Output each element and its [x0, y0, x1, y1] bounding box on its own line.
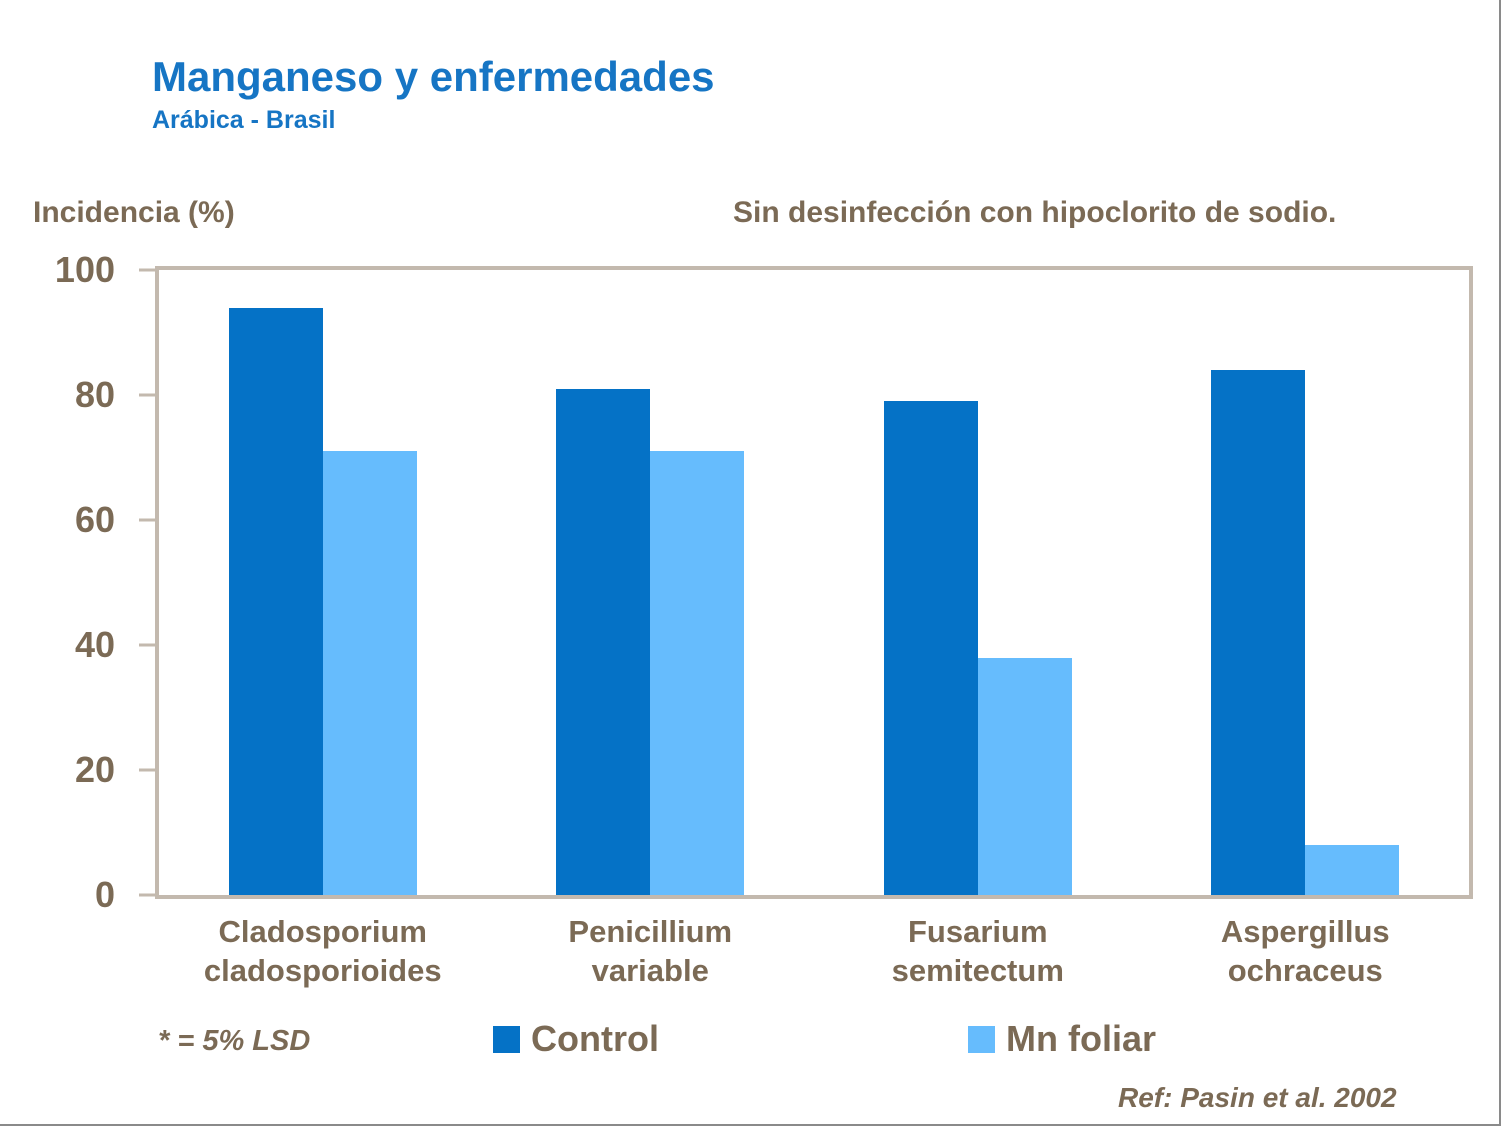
- legend-swatch-icon-mn-foliar: [968, 1026, 995, 1053]
- y-axis-tick-mark: [139, 644, 155, 647]
- legend-swatch-icon-control: [493, 1026, 520, 1053]
- y-axis-tick-label: 60: [0, 499, 115, 541]
- x-axis-category-label-line: Aspergillus: [1142, 912, 1470, 951]
- plot-area: [155, 266, 1473, 899]
- x-axis-category-label-line: semitectum: [814, 951, 1142, 990]
- bar-mn-foliar[interactable]: [650, 451, 744, 895]
- reference-text: Ref: Pasin et al. 2002: [1118, 1082, 1397, 1114]
- y-axis-tick-label: 80: [0, 374, 115, 416]
- y-axis-tick-mark: [139, 519, 155, 522]
- page-subtitle: Arábica - Brasil: [152, 104, 715, 136]
- x-axis-category-label-line: Cladosporium: [159, 912, 487, 951]
- bar-group: [487, 270, 815, 895]
- y-axis-tick-mark: [139, 269, 155, 272]
- bar-control[interactable]: [884, 401, 978, 895]
- x-axis-category-label-line: Fusarium: [814, 912, 1142, 951]
- x-axis-category-label-line: Penicillium: [487, 912, 815, 951]
- y-axis-title: Incidencia (%): [33, 196, 235, 230]
- x-axis-category-label: Aspergillusochraceus: [1142, 912, 1470, 990]
- bar-control[interactable]: [1211, 370, 1305, 895]
- title-block: Manganeso y enfermedades Arábica - Brasi…: [152, 52, 715, 136]
- bar-control[interactable]: [556, 389, 650, 895]
- legend-label-mn-foliar: Mn foliar: [1006, 1018, 1156, 1060]
- chart-note: Sin desinfección con hipoclorito de sodi…: [733, 196, 1336, 230]
- bar-group: [159, 270, 487, 895]
- bar-group: [814, 270, 1142, 895]
- bar-mn-foliar[interactable]: [1305, 845, 1399, 895]
- x-axis-category-label: Fusariumsemitectum: [814, 912, 1142, 990]
- legend-label-control: Control: [531, 1018, 659, 1060]
- bar-mn-foliar[interactable]: [323, 451, 417, 895]
- x-axis-category-label-line: ochraceus: [1142, 951, 1470, 990]
- lsd-note: * = 5% LSD: [158, 1025, 310, 1058]
- y-axis-tick-label: 40: [0, 624, 115, 666]
- plot-inner: [159, 270, 1469, 895]
- y-axis-tick-mark: [139, 769, 155, 772]
- bar-mn-foliar[interactable]: [978, 658, 1072, 896]
- bar-control[interactable]: [229, 308, 323, 896]
- bar-group: [1142, 270, 1470, 895]
- legend-item-mn-foliar[interactable]: Mn foliar: [968, 1018, 1156, 1060]
- y-axis-tick-mark: [139, 394, 155, 397]
- page-title: Manganeso y enfermedades: [152, 52, 715, 102]
- y-axis-tick-mark: [139, 894, 155, 897]
- x-axis-category-label-line: variable: [487, 951, 815, 990]
- x-axis-category-label-line: cladosporioides: [159, 951, 487, 990]
- y-axis-tick-label: 100: [0, 249, 115, 291]
- y-axis-tick-label: 0: [0, 874, 115, 916]
- chart-page: Manganeso y enfermedades Arábica - Brasi…: [0, 0, 1501, 1126]
- legend-item-control[interactable]: Control: [493, 1018, 659, 1060]
- x-axis-category-label: Cladosporiumcladosporioides: [159, 912, 487, 990]
- y-axis-tick-label: 20: [0, 749, 115, 791]
- x-axis-category-label: Penicilliumvariable: [487, 912, 815, 990]
